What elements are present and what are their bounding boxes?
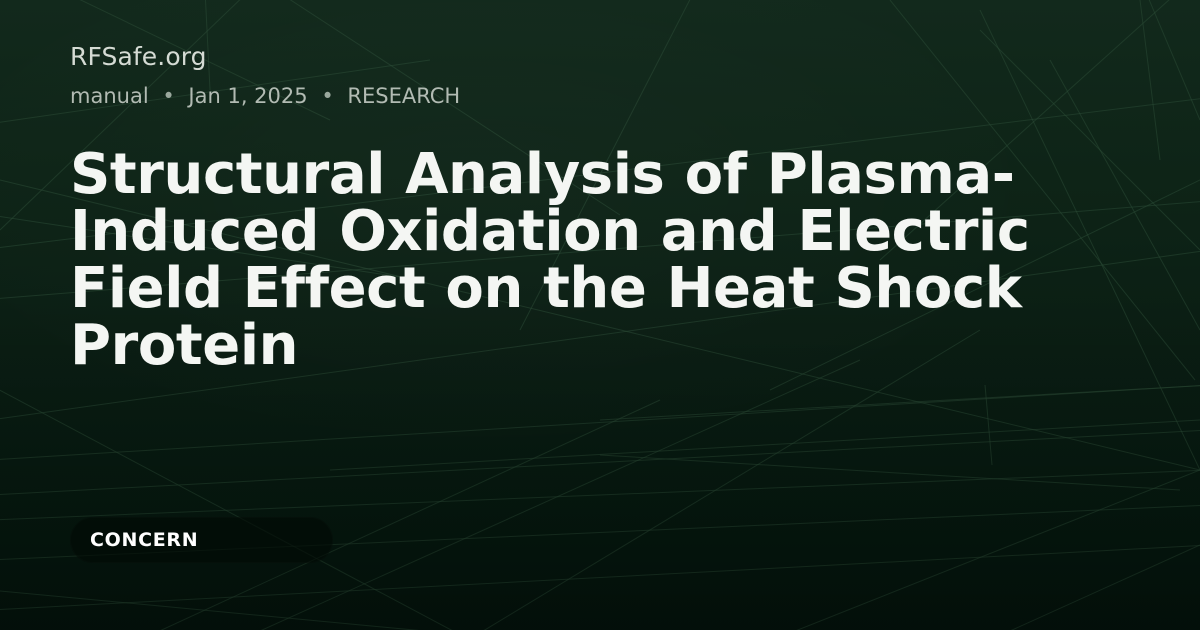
meta-date: Jan 1, 2025 (188, 84, 307, 108)
og-share-card: RFSafe.org manual • Jan 1, 2025 • RESEAR… (0, 0, 1200, 630)
meta-separator-1: • (162, 83, 174, 109)
meta-source: manual (70, 84, 149, 108)
badge-row: CONCERN (70, 517, 333, 563)
article-meta: manual • Jan 1, 2025 • RESEARCH (70, 83, 460, 109)
site-name: RFSafe.org (70, 43, 207, 71)
status-badge: CONCERN (70, 517, 333, 563)
status-badge-label: CONCERN (90, 529, 198, 551)
meta-category: RESEARCH (347, 84, 460, 108)
meta-separator-2: • (321, 83, 333, 109)
page-title: Structural Analysis of Plasma-Induced Ox… (70, 146, 1150, 374)
